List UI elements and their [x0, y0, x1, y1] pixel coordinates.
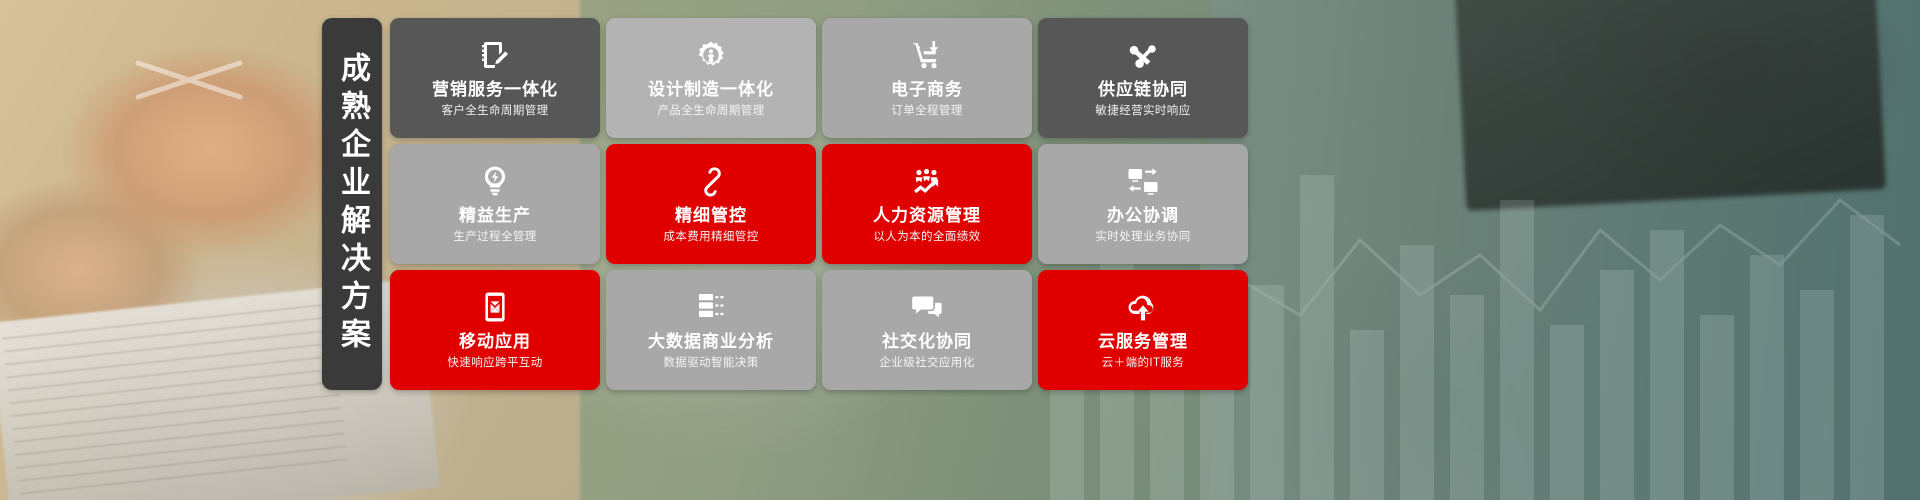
solution-card-lean-production[interactable]: 精益生产 生产过程全管理: [390, 144, 600, 264]
card-title: 供应链协同: [1098, 81, 1188, 100]
card-subtitle: 以人为本的全面绩效: [873, 231, 980, 244]
solution-card-social-collaboration[interactable]: 社交化协同 企业级社交应用化: [822, 270, 1032, 390]
card-title: 人力资源管理: [873, 207, 981, 226]
card-subtitle: 企业级社交应用化: [879, 357, 974, 370]
card-subtitle: 云＋端的IT服务: [1102, 357, 1184, 370]
card-subtitle: 数据驱动智能决策: [663, 357, 758, 370]
chat-bubbles-icon: [910, 290, 944, 324]
card-title: 云服务管理: [1098, 333, 1188, 352]
card-title: 设计制造一体化: [648, 81, 774, 100]
vertical-title-panel: 成熟企业解决方案: [322, 18, 382, 390]
card-title: 办公协调: [1107, 207, 1179, 226]
card-subtitle: 产品全生命周期管理: [657, 105, 764, 118]
shopping-cart-download-icon: [910, 38, 944, 72]
solution-card-hr[interactable]: 人力资源管理 以人为本的全面绩效: [822, 144, 1032, 264]
solution-card-supply-chain[interactable]: 供应链协同 敏捷经营实时响应: [1038, 18, 1248, 138]
card-subtitle: 成本费用精细管控: [663, 231, 758, 244]
monitor-sync-icon: [1126, 164, 1160, 198]
card-subtitle: 快速响应跨平互动: [447, 357, 542, 370]
solution-card-cloud-service[interactable]: 云服务管理 云＋端的IT服务: [1038, 270, 1248, 390]
card-title: 精细管控: [675, 207, 747, 226]
card-title: 大数据商业分析: [648, 333, 774, 352]
people-growth-arrow-icon: [910, 164, 944, 198]
card-subtitle: 实时处理业务协同: [1095, 231, 1190, 244]
background-x-mark-icon: [130, 55, 250, 105]
solution-card-marketing[interactable]: 营销服务一体化 客户全生命周期管理: [390, 18, 600, 138]
paperclip-link-icon: [694, 164, 728, 198]
solution-card-mobile-app[interactable]: 移动应用 快速响应跨平互动: [390, 270, 600, 390]
mobile-phone-icon: [478, 290, 512, 324]
card-subtitle: 生产过程全管理: [453, 231, 536, 244]
card-title: 社交化协同: [882, 333, 972, 352]
card-subtitle: 客户全生命周期管理: [441, 105, 548, 118]
solution-card-cost-control[interactable]: 精细管控 成本费用精细管控: [606, 144, 816, 264]
solution-card-big-data[interactable]: 大数据商业分析 数据驱动智能决策: [606, 270, 816, 390]
card-title: 移动应用: [459, 333, 531, 352]
database-bars-icon: [694, 290, 728, 324]
banner-stage: 成熟企业解决方案 营销服务一体化 客户全生命周期管理 设计制造一体化 产品全生命…: [0, 0, 1920, 500]
lightbulb-bolt-icon: [478, 164, 512, 198]
gear-person-icon: [694, 38, 728, 72]
solutions-panel: 成熟企业解决方案 营销服务一体化 客户全生命周期管理 设计制造一体化 产品全生命…: [322, 18, 1248, 390]
card-title: 营销服务一体化: [432, 81, 558, 100]
card-subtitle: 敏捷经营实时响应: [1095, 105, 1190, 118]
card-subtitle: 订单全程管理: [891, 105, 962, 118]
page-title: 成熟企业解决方案: [337, 52, 367, 356]
clipboard-pencil-icon: [478, 38, 512, 72]
network-nodes-icon: [1126, 38, 1160, 72]
cloud-upload-icon: [1126, 290, 1160, 324]
card-title: 电子商务: [891, 81, 963, 100]
solution-card-grid: 营销服务一体化 客户全生命周期管理 设计制造一体化 产品全生命周期管理 电子商务…: [390, 18, 1248, 390]
solution-card-ecommerce[interactable]: 电子商务 订单全程管理: [822, 18, 1032, 138]
solution-card-office-collaboration[interactable]: 办公协调 实时处理业务协同: [1038, 144, 1248, 264]
solution-card-design-manufacture[interactable]: 设计制造一体化 产品全生命周期管理: [606, 18, 816, 138]
card-title: 精益生产: [459, 207, 531, 226]
